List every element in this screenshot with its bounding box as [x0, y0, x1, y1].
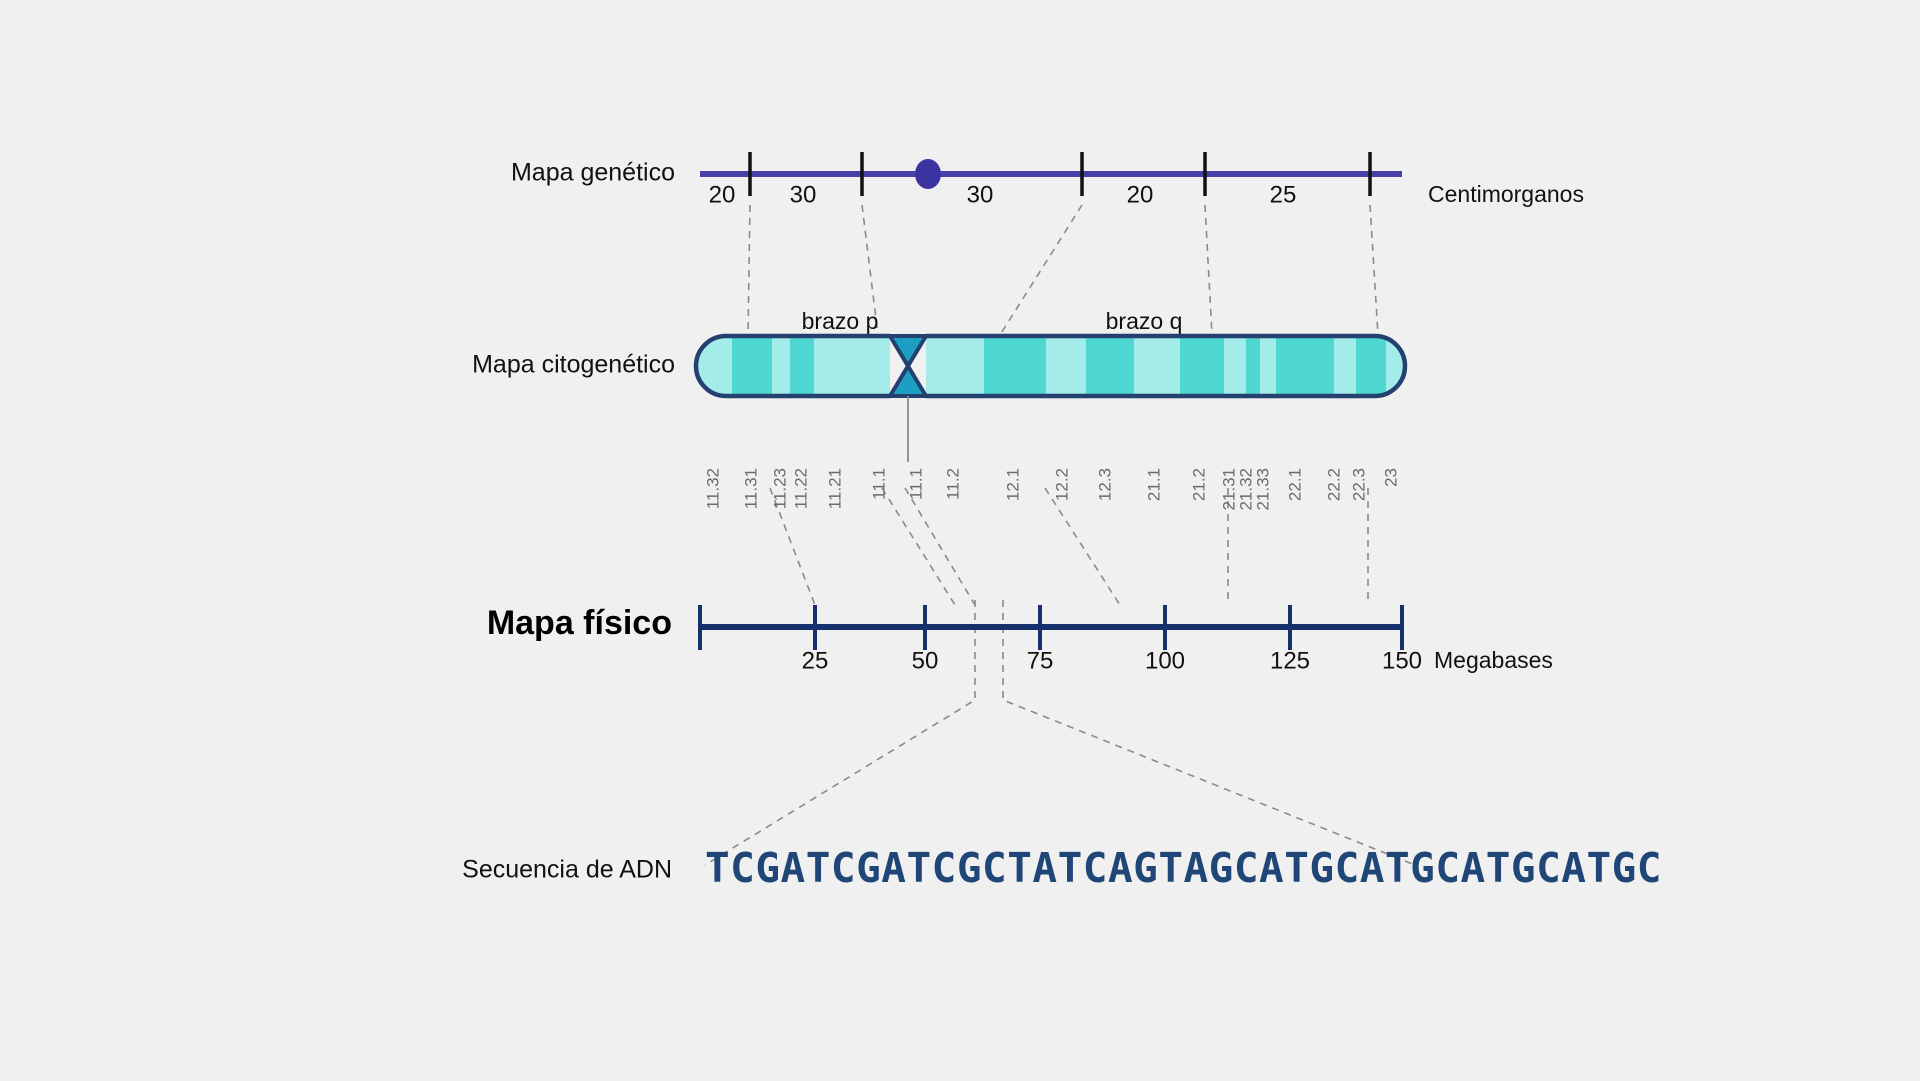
band-label-21.33: 21.33 — [1253, 468, 1272, 511]
physical-map-tick-label-50: 50 — [912, 647, 939, 674]
cytogenetic-map-row: Mapa citogenético brazo p brazo q — [472, 308, 1414, 510]
band-label-11.31: 11.31 — [741, 468, 760, 509]
band-rect-21.2[interactable] — [1180, 334, 1224, 398]
band-rect-11.32[interactable] — [696, 334, 732, 398]
leader-line-genetic-3 — [1000, 205, 1082, 335]
band-rect-11.2[interactable] — [926, 334, 984, 398]
band-label-11.23: 11.23 — [770, 468, 789, 509]
leader-lines-cytogenetic-to-physical — [770, 488, 1368, 605]
leader-line-genetic-4 — [1205, 205, 1212, 335]
leader-line-dna-left — [705, 600, 975, 865]
band-label-22.1: 22.1 — [1285, 468, 1304, 501]
band-label-11.21: 11.21 — [825, 468, 844, 509]
genetic-map-interval-value-4: 20 — [1127, 181, 1154, 208]
arm-p-label: brazo p — [802, 308, 879, 334]
band-label-12.2: 12.2 — [1052, 468, 1071, 501]
band-rect-21.31[interactable] — [1224, 334, 1246, 398]
band-label-p11.1: 11.1 — [869, 468, 888, 500]
leader-line-genetic-1 — [748, 205, 750, 335]
band-rect-22.1[interactable] — [1276, 334, 1334, 398]
band-label-22.3: 22.3 — [1349, 468, 1368, 501]
leader-line-physical-6 — [905, 488, 975, 605]
genetic-map-row: Mapa genético 20 30 30 20 25 Centimorgan… — [511, 152, 1584, 208]
leader-line-physical-2 — [882, 488, 955, 605]
band-rect-12.3[interactable] — [1086, 334, 1134, 398]
leader-line-dna-right — [1003, 600, 1415, 865]
genetic-map-interval-value-3: 30 — [967, 181, 994, 208]
physical-map-tick-label-100: 100 — [1145, 647, 1185, 674]
physical-map-row: Mapa físico 25 50 75 100 125 150 Megabas… — [487, 604, 1553, 674]
band-label-11.2: 11.2 — [943, 468, 962, 500]
band-label-12.3: 12.3 — [1095, 468, 1114, 501]
ideogram-p-arm-bands — [690, 334, 902, 398]
band-rect-21.33[interactable] — [1260, 334, 1276, 398]
band-rect-12.1[interactable] — [984, 334, 1046, 398]
ideogram-q-arm-bands — [920, 334, 1414, 398]
band-label-11.32: 11.32 — [703, 468, 722, 509]
dna-sequence-text: TCGATCGATCGCTATCAGTAGCATGCATGCATGCATGC — [705, 844, 1662, 892]
band-rect-22.2[interactable] — [1334, 334, 1356, 398]
physical-map-tick-label-125: 125 — [1270, 647, 1310, 674]
chromosome-map-figure: Mapa genético 20 30 30 20 25 Centimorgan… — [0, 0, 1920, 1081]
genetic-map-marker-dot[interactable] — [915, 159, 941, 189]
band-label-11.22: 11.22 — [791, 468, 810, 509]
band-rect-11.23[interactable] — [772, 334, 790, 398]
leader-line-physical-3 — [1045, 488, 1120, 605]
band-rect-23[interactable] — [1386, 334, 1414, 398]
band-label-group: 11.32 11.31 11.23 11.22 11.21 11.1 11.1 … — [703, 468, 1400, 511]
genetic-map-unit-label: Centimorganos — [1428, 181, 1584, 207]
centromere-shape[interactable] — [890, 336, 926, 396]
dna-sequence-label: Secuencia de ADN — [462, 856, 672, 884]
physical-map-tick-label-25: 25 — [802, 647, 829, 674]
physical-map-unit-label: Megabases — [1434, 647, 1553, 673]
genetic-map-interval-value-1: 20 — [709, 181, 736, 208]
genetic-map-label: Mapa genético — [511, 159, 675, 187]
band-label-23: 23 — [1381, 468, 1400, 487]
band-label-21.1: 21.1 — [1144, 468, 1163, 501]
genetic-map-interval-value-5: 25 — [1270, 181, 1297, 208]
band-rect-11.31[interactable] — [732, 334, 772, 398]
dna-sequence-row: Secuencia de ADN TCGATCGATCGCTATCAGTAGCA… — [462, 844, 1662, 892]
physical-map-label: Mapa físico — [487, 604, 672, 642]
leader-line-genetic-5 — [1370, 205, 1378, 335]
band-label-21.2: 21.2 — [1189, 468, 1208, 501]
leader-lines-physical-to-dna — [705, 600, 1415, 865]
genetic-map-interval-value-2: 30 — [790, 181, 817, 208]
band-label-22.2: 22.2 — [1324, 468, 1343, 501]
band-rect-11.22[interactable] — [790, 334, 814, 398]
band-rect-21.32[interactable] — [1246, 334, 1260, 398]
band-rect-11.21[interactable] — [814, 334, 892, 398]
band-rect-22.3[interactable] — [1356, 334, 1386, 398]
physical-map-tick-label-150: 150 — [1382, 647, 1422, 674]
band-label-q11.1: 11.1 — [906, 468, 925, 500]
band-rect-12.2[interactable] — [1046, 334, 1086, 398]
band-rect-21.1[interactable] — [1134, 334, 1180, 398]
arm-q-label: brazo q — [1106, 308, 1183, 334]
band-label-12.1: 12.1 — [1003, 468, 1022, 501]
physical-map-tick-label-75: 75 — [1027, 647, 1054, 674]
cytogenetic-map-label: Mapa citogenético — [472, 351, 675, 379]
diagram-canvas: Mapa genético 20 30 30 20 25 Centimorgan… — [0, 0, 1920, 1081]
